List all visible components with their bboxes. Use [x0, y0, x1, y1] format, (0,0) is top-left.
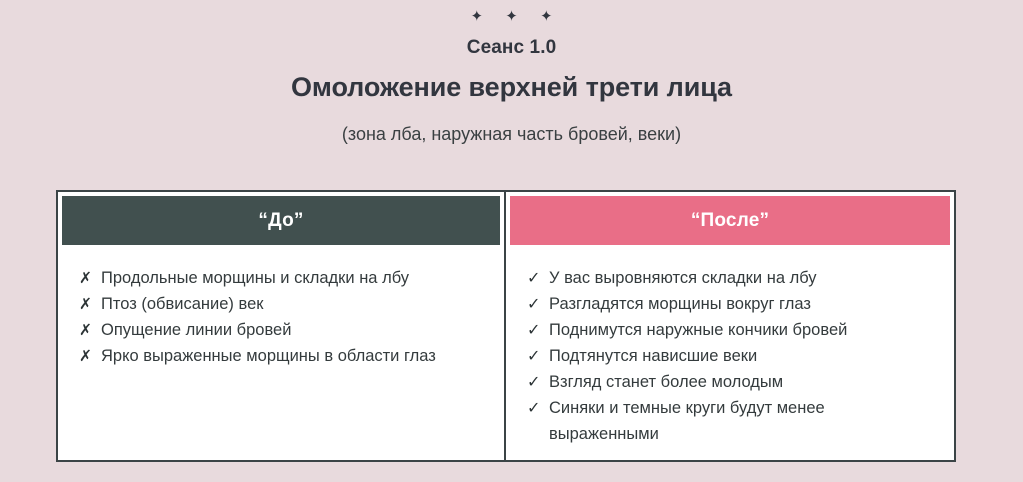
- after-list: ✓ У вас выровняются складки на лбу ✓ Раз…: [510, 245, 950, 448]
- check-icon: ✓: [527, 266, 545, 292]
- list-item-label: Синяки и темные круги будут менее выраже…: [549, 399, 825, 443]
- check-icon: ✓: [527, 370, 545, 396]
- list-item: ✗ Ярко выраженные морщины в области глаз: [79, 344, 486, 370]
- list-item: ✓ Синяки и темные круги будут менее выра…: [527, 396, 936, 447]
- cross-icon: ✗: [79, 292, 97, 318]
- list-item: ✓ Взгляд станет более молодым: [527, 370, 936, 396]
- list-item-label: У вас выровняются складки на лбу: [549, 269, 817, 287]
- slide-root: ✦ ✦ ✦ Сеанс 1.0 Омоложение верхней трети…: [0, 0, 1023, 482]
- list-item-label: Ярко выраженные морщины в области глаз: [101, 347, 436, 365]
- slide-header: ✦ ✦ ✦ Сеанс 1.0 Омоложение верхней трети…: [0, 0, 1023, 146]
- column-before: “До” ✗ Продольные морщины и складки на л…: [58, 192, 506, 460]
- column-header-before: “До”: [62, 196, 500, 245]
- before-list: ✗ Продольные морщины и складки на лбу ✗ …: [62, 245, 500, 370]
- sparkles-icon: ✦ ✦ ✦: [0, 8, 1023, 28]
- list-item-label: Поднимутся наружные кончики бровей: [549, 321, 847, 339]
- list-item: ✗ Продольные морщины и складки на лбу: [79, 266, 486, 292]
- list-item: ✓ Разгладятся морщины вокруг глаз: [527, 292, 936, 318]
- page-title: Омоложение верхней трети лица: [0, 70, 1023, 104]
- column-after-inner: “После” ✓ У вас выровняются складки на л…: [506, 192, 954, 460]
- list-item-label: Опущение линии бровей: [101, 321, 291, 339]
- list-item-label: Продольные морщины и складки на лбу: [101, 269, 409, 287]
- check-icon: ✓: [527, 396, 545, 422]
- list-item: ✓ У вас выровняются складки на лбу: [527, 266, 936, 292]
- column-before-inner: “До” ✗ Продольные морщины и складки на л…: [58, 192, 504, 460]
- column-header-after: “После”: [510, 196, 950, 245]
- list-item: ✗ Опущение линии бровей: [79, 318, 486, 344]
- check-icon: ✓: [527, 292, 545, 318]
- list-item-label: Птоз (обвисание) век: [101, 295, 263, 313]
- list-item: ✓ Подтянутся нависшие веки: [527, 344, 936, 370]
- check-icon: ✓: [527, 344, 545, 370]
- list-item: ✗ Птоз (обвисание) век: [79, 292, 486, 318]
- column-after: “После” ✓ У вас выровняются складки на л…: [506, 192, 954, 460]
- list-item-label: Взгляд станет более молодым: [549, 373, 783, 391]
- before-after-comparison-table: “До” ✗ Продольные морщины и складки на л…: [56, 190, 956, 462]
- session-label: Сеанс 1.0: [0, 35, 1023, 61]
- page-subtitle: (зона лба, наружная часть бровей, веки): [0, 122, 1023, 146]
- cross-icon: ✗: [79, 318, 97, 344]
- cross-icon: ✗: [79, 266, 97, 292]
- list-item-label: Разгладятся морщины вокруг глаз: [549, 295, 811, 313]
- list-item: ✓ Поднимутся наружные кончики бровей: [527, 318, 936, 344]
- cross-icon: ✗: [79, 344, 97, 370]
- check-icon: ✓: [527, 318, 545, 344]
- list-item-label: Подтянутся нависшие веки: [549, 347, 757, 365]
